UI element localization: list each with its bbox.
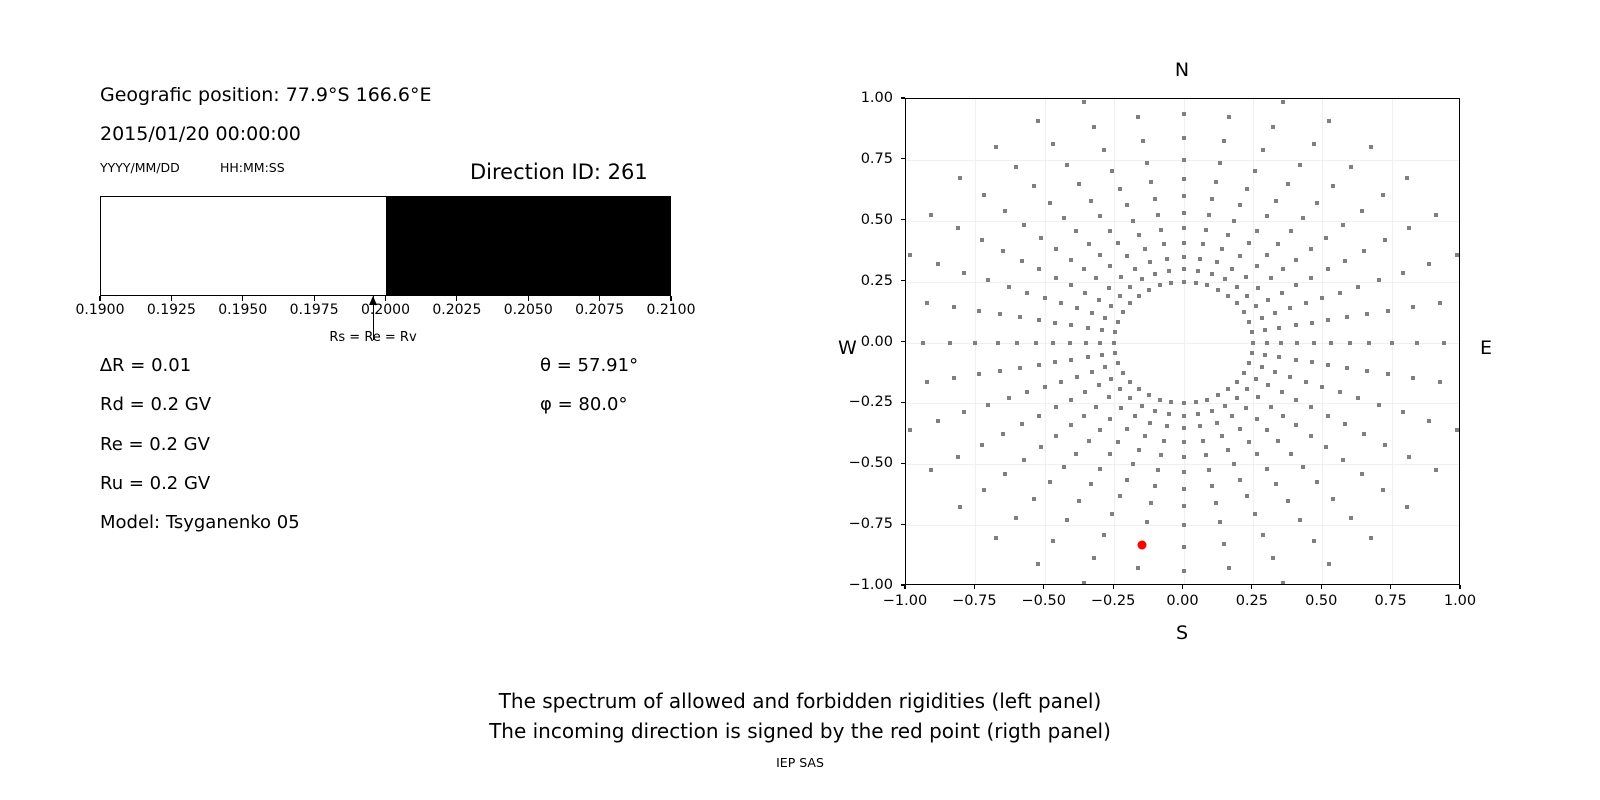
- direction-grid-point: [1125, 254, 1129, 258]
- direction-grid-point: [1455, 428, 1459, 432]
- direction-grid-point: [1245, 494, 1249, 498]
- direction-grid-point: [1438, 380, 1442, 384]
- direction-grid-point: [1051, 142, 1055, 146]
- direction-grid-point: [1210, 272, 1214, 276]
- direction-grid-point: [1182, 177, 1186, 181]
- direction-grid-point: [980, 443, 984, 447]
- direction-grid-point: [1276, 439, 1280, 443]
- direction-grid-point: [1315, 480, 1319, 484]
- direction-grid-point: [948, 341, 952, 345]
- sky-x-tick: [1113, 585, 1114, 589]
- direction-grid-point: [1037, 318, 1041, 322]
- compass-label-east: E: [1480, 337, 1492, 359]
- direction-grid-point: [1182, 414, 1186, 418]
- sky-x-tick-label: 0.75: [1374, 593, 1406, 609]
- direction-grid-point: [1227, 566, 1231, 570]
- direction-grid-point: [1349, 516, 1353, 520]
- direction-grid-point: [1137, 387, 1141, 391]
- direction-grid-point: [1118, 187, 1122, 191]
- sky-x-tick-label: −0.25: [1091, 593, 1135, 609]
- direction-grid-point: [1043, 385, 1047, 389]
- direction-grid-point: [1215, 260, 1219, 264]
- direction-grid-point: [1001, 249, 1005, 253]
- direction-grid-point: [1232, 219, 1236, 223]
- direction-grid-point: [1247, 241, 1251, 245]
- direction-grid-point: [1022, 458, 1026, 462]
- direction-grid-point: [962, 410, 966, 414]
- direction-grid-point: [1269, 405, 1273, 409]
- direction-grid-point: [1083, 291, 1087, 295]
- direction-grid-point: [1294, 423, 1298, 427]
- direction-grid-point: [1280, 390, 1284, 394]
- direction-grid-point: [1007, 285, 1011, 289]
- direction-grid-point: [1039, 445, 1043, 449]
- direction-grid-point: [1015, 341, 1019, 345]
- direction-grid-point: [1118, 387, 1122, 391]
- compass-label-south: S: [1176, 622, 1188, 644]
- direction-grid-point: [1265, 253, 1269, 257]
- direction-grid-point: [1167, 412, 1171, 416]
- direction-grid-point: [1301, 216, 1305, 220]
- direction-grid-point: [1345, 366, 1349, 370]
- direction-grid-point: [998, 369, 1002, 373]
- direction-grid-point: [1128, 380, 1132, 384]
- direction-grid-point: [1294, 398, 1298, 402]
- direction-grid-point: [982, 488, 986, 492]
- direction-grid-point: [1182, 440, 1186, 444]
- direction-grid-point: [1051, 539, 1055, 543]
- direction-grid-point: [1226, 387, 1230, 391]
- direction-grid-point: [1092, 556, 1096, 560]
- direction-grid-point: [1260, 365, 1264, 369]
- direction-grid-point: [1289, 452, 1293, 456]
- direction-grid-point: [1251, 341, 1255, 345]
- direction-grid-point: [1273, 370, 1277, 374]
- direction-grid-point: [1369, 536, 1373, 540]
- direction-grid-point: [1255, 452, 1259, 456]
- direction-grid-point: [1153, 197, 1157, 201]
- direction-grid-point: [929, 213, 933, 217]
- direction-grid-point: [1204, 228, 1208, 232]
- direction-grid-point: [1253, 169, 1257, 173]
- direction-grid-point: [1069, 283, 1073, 287]
- direction-grid-point: [1097, 383, 1101, 387]
- direction-grid-point: [1116, 241, 1120, 245]
- direction-grid-point: [1281, 100, 1285, 104]
- direction-grid-point: [1100, 328, 1104, 332]
- direction-grid-point: [1007, 396, 1011, 400]
- direction-grid-point: [1320, 296, 1324, 300]
- direction-grid-point: [1121, 371, 1125, 375]
- direction-grid-point: [1383, 238, 1387, 242]
- direction-grid-point: [1082, 414, 1086, 418]
- direction-grid-point: [1365, 369, 1369, 373]
- gridline-horizontal: [906, 464, 1459, 465]
- direction-grid-point: [1107, 286, 1111, 290]
- direction-grid-point: [1271, 556, 1275, 560]
- direction-grid-point: [1158, 283, 1162, 287]
- direction-grid-point: [1386, 372, 1390, 376]
- direction-grid-point: [1182, 504, 1186, 508]
- direction-grid-point: [1288, 306, 1292, 310]
- direction-grid-point: [977, 309, 981, 313]
- sky-y-tick-label: −0.75: [835, 516, 893, 532]
- direction-grid-point: [1182, 211, 1186, 215]
- direction-grid-point: [1054, 247, 1058, 251]
- direction-grid-point: [1034, 341, 1038, 345]
- direction-grid-point: [1216, 393, 1220, 397]
- incoming-direction-point: [1137, 540, 1146, 549]
- direction-grid-point: [1069, 358, 1073, 362]
- sky-y-tick: [901, 158, 905, 159]
- direction-grid-point: [1182, 255, 1186, 259]
- direction-grid-point: [1207, 468, 1211, 472]
- direction-grid-point: [952, 305, 956, 309]
- sky-x-tick: [1390, 585, 1391, 589]
- direction-grid-point: [1097, 298, 1101, 302]
- direction-grid-point: [1116, 361, 1120, 365]
- direction-grid-point: [1053, 321, 1057, 325]
- direction-grid-point: [1141, 139, 1145, 143]
- direction-grid-point: [1113, 330, 1117, 334]
- direction-grid-point: [1411, 305, 1415, 309]
- direction-grid-point: [1113, 351, 1117, 355]
- direction-grid-point: [1220, 434, 1224, 438]
- direction-grid-point: [1269, 276, 1273, 280]
- direction-grid-point: [1145, 161, 1149, 165]
- direction-grid-point: [1265, 214, 1269, 218]
- direction-grid-point: [1210, 197, 1214, 201]
- direction-grid-point: [1365, 312, 1369, 316]
- direction-grid-point: [994, 536, 998, 540]
- direction-grid-point: [1235, 301, 1239, 305]
- direction-grid-point: [1125, 203, 1129, 207]
- direction-grid-point: [1098, 428, 1102, 432]
- direction-grid-point: [1227, 115, 1231, 119]
- direction-grid-point: [1312, 539, 1316, 543]
- direction-grid-point: [1265, 467, 1269, 471]
- gridline-vertical: [1322, 99, 1323, 584]
- direction-grid-point: [1110, 512, 1114, 516]
- direction-grid-point: [1265, 428, 1269, 432]
- direction-grid-point: [1109, 304, 1113, 308]
- gridline-horizontal: [906, 221, 1459, 222]
- compass-label-north: N: [1175, 59, 1189, 81]
- direction-grid-point: [1242, 310, 1246, 314]
- direction-grid-point: [1280, 291, 1284, 295]
- direction-grid-point: [1242, 371, 1246, 375]
- direction-grid-point: [1261, 533, 1265, 537]
- direction-grid-point: [1256, 395, 1260, 399]
- direction-grid-point: [1362, 249, 1366, 253]
- direction-grid-point: [1182, 280, 1186, 284]
- direction-grid-point: [1310, 321, 1314, 325]
- direction-grid-point: [1167, 269, 1171, 273]
- direction-grid-point: [1143, 434, 1147, 438]
- direction-grid-point: [1182, 241, 1186, 245]
- direction-grid-point: [1201, 439, 1205, 443]
- direction-grid-point: [1223, 277, 1227, 281]
- direction-grid-point: [1147, 393, 1151, 397]
- sky-map-panel: N S W E −1.00−0.75−0.50−0.250.000.250.50…: [0, 0, 1600, 660]
- sky-x-tick: [974, 585, 975, 589]
- direction-grid-point: [1369, 145, 1373, 149]
- direction-grid-point: [1082, 100, 1086, 104]
- direction-grid-point: [1137, 448, 1141, 452]
- direction-grid-point: [1298, 163, 1302, 167]
- direction-grid-point: [1434, 468, 1438, 472]
- direction-grid-point: [1036, 119, 1040, 123]
- sky-x-tick-label: 0.00: [1166, 593, 1198, 609]
- direction-grid-point: [908, 253, 912, 257]
- direction-grid-point: [1411, 376, 1415, 380]
- direction-grid-point: [1247, 361, 1251, 365]
- direction-grid-point: [1121, 310, 1125, 314]
- direction-grid-point: [1054, 276, 1058, 280]
- direction-grid-point: [1048, 480, 1052, 484]
- direction-grid-point: [1140, 404, 1144, 408]
- direction-grid-point: [1210, 484, 1214, 488]
- direction-grid-point: [1266, 298, 1270, 302]
- sky-y-tick: [901, 219, 905, 220]
- sky-y-tick-label: 0.25: [835, 273, 893, 289]
- direction-grid-point: [1032, 184, 1036, 188]
- direction-grid-point: [1220, 247, 1224, 251]
- direction-grid-point: [1247, 440, 1251, 444]
- direction-grid-point: [1327, 119, 1331, 123]
- direction-grid-point: [1110, 169, 1114, 173]
- direction-grid-point: [986, 403, 990, 407]
- direction-grid-point: [1159, 453, 1163, 457]
- direction-grid-point: [1133, 414, 1137, 418]
- direction-grid-point: [1148, 421, 1152, 425]
- direction-grid-point: [1205, 283, 1209, 287]
- direction-grid-point: [1182, 545, 1186, 549]
- direction-grid-point: [1324, 445, 1328, 449]
- gridline-vertical: [1184, 99, 1185, 584]
- direction-grid-point: [1238, 478, 1242, 482]
- direction-grid-point: [1338, 390, 1342, 394]
- direction-grid-point: [1427, 419, 1431, 423]
- direction-grid-point: [1125, 478, 1129, 482]
- direction-grid-point: [1119, 406, 1123, 410]
- direction-grid-point: [1119, 275, 1123, 279]
- direction-grid-point: [1260, 316, 1264, 320]
- direction-grid-point: [1196, 269, 1200, 273]
- direction-grid-point: [1401, 410, 1405, 414]
- direction-grid-point: [1194, 281, 1198, 285]
- direction-grid-point: [1131, 462, 1135, 466]
- direction-grid-point: [1247, 320, 1251, 324]
- direction-grid-point: [1294, 358, 1298, 362]
- direction-grid-point: [1182, 226, 1186, 230]
- direction-grid-point: [1442, 341, 1446, 345]
- direction-grid-point: [936, 419, 940, 423]
- direction-grid-point: [1390, 341, 1394, 345]
- direction-grid-point: [1298, 518, 1302, 522]
- direction-grid-point: [1245, 387, 1249, 391]
- sky-map-axes: [905, 98, 1460, 585]
- direction-grid-point: [921, 341, 925, 345]
- sky-x-tick-label: −1.00: [883, 593, 927, 609]
- direction-grid-point: [1136, 566, 1140, 570]
- direction-grid-point: [1401, 271, 1405, 275]
- gridline-vertical: [1045, 99, 1046, 584]
- direction-grid-point: [1182, 194, 1186, 198]
- direction-grid-point: [1112, 341, 1116, 345]
- direction-grid-point: [1065, 163, 1069, 167]
- direction-grid-point: [1162, 242, 1166, 246]
- direction-grid-point: [1098, 467, 1102, 471]
- direction-grid-point: [1149, 501, 1153, 505]
- direction-grid-point: [1345, 315, 1349, 319]
- direction-grid-point: [1128, 396, 1132, 400]
- direction-grid-point: [977, 372, 981, 376]
- direction-grid-point: [1331, 497, 1335, 501]
- sky-y-tick-label: −1.00: [835, 577, 893, 593]
- sky-y-tick: [901, 280, 905, 281]
- direction-grid-point: [1360, 209, 1364, 213]
- direction-grid-point: [1222, 139, 1226, 143]
- sky-x-tick: [1321, 585, 1322, 589]
- direction-grid-point: [1309, 276, 1313, 280]
- direction-grid-point: [1118, 494, 1122, 498]
- direction-grid-point: [1140, 277, 1144, 281]
- direction-grid-point: [1014, 516, 1018, 520]
- direction-grid-point: [1182, 455, 1186, 459]
- direction-grid-point: [996, 341, 1000, 345]
- direction-grid-point: [1039, 236, 1043, 240]
- direction-grid-point: [1312, 341, 1316, 345]
- sky-x-tick-label: 1.00: [1444, 593, 1476, 609]
- direction-grid-point: [1090, 370, 1094, 374]
- direction-grid-point: [1133, 267, 1137, 271]
- direction-grid-point: [1320, 385, 1324, 389]
- direction-grid-point: [1182, 136, 1186, 140]
- direction-grid-point: [1098, 341, 1102, 345]
- direction-grid-point: [1218, 161, 1222, 165]
- direction-grid-point: [1207, 213, 1211, 217]
- direction-grid-point: [1089, 199, 1093, 203]
- caption-line-1: The spectrum of allowed and forbidden ri…: [0, 686, 1600, 716]
- direction-grid-point: [1094, 276, 1098, 280]
- direction-grid-point: [1156, 213, 1160, 217]
- direction-grid-point: [1198, 257, 1202, 261]
- direction-grid-point: [1230, 267, 1234, 271]
- sky-y-tick: [901, 402, 905, 403]
- direction-grid-point: [1182, 158, 1186, 162]
- direction-grid-point: [1059, 380, 1063, 384]
- direction-grid-point: [1331, 184, 1335, 188]
- direction-grid-point: [1075, 375, 1079, 379]
- direction-grid-point: [1201, 242, 1205, 246]
- direction-grid-point: [1326, 318, 1330, 322]
- direction-grid-point: [1020, 259, 1024, 263]
- direction-grid-point: [908, 428, 912, 432]
- direction-grid-point: [1156, 468, 1160, 472]
- direction-grid-point: [1194, 400, 1198, 404]
- direction-grid-point: [1087, 439, 1091, 443]
- direction-grid-point: [1288, 375, 1292, 379]
- direction-grid-point: [1089, 482, 1093, 486]
- direction-grid-point: [1158, 398, 1162, 402]
- direction-grid-point: [1407, 226, 1411, 230]
- direction-grid-point: [1304, 301, 1308, 305]
- direction-grid-point: [1182, 470, 1186, 474]
- direction-grid-point: [1077, 182, 1081, 186]
- direction-grid-point: [1109, 377, 1113, 381]
- direction-grid-point: [1069, 423, 1073, 427]
- direction-grid-point: [958, 176, 962, 180]
- sky-y-tick-label: −0.25: [835, 394, 893, 410]
- direction-grid-point: [1245, 187, 1249, 191]
- direction-grid-point: [1310, 360, 1314, 364]
- direction-grid-point: [1182, 267, 1186, 271]
- direction-grid-point: [1082, 581, 1086, 585]
- direction-grid-point: [1090, 311, 1094, 315]
- direction-grid-point: [1210, 409, 1214, 413]
- direction-grid-point: [1281, 267, 1285, 271]
- direction-grid-point: [1053, 360, 1057, 364]
- direction-grid-point: [1329, 341, 1333, 345]
- direction-grid-point: [1263, 328, 1267, 332]
- direction-grid-point: [1025, 390, 1029, 394]
- direction-grid-point: [1215, 421, 1219, 425]
- direction-grid-point: [1022, 223, 1026, 227]
- direction-grid-point: [1381, 488, 1385, 492]
- direction-grid-point: [1153, 409, 1157, 413]
- direction-grid-point: [1204, 453, 1208, 457]
- direction-grid-point: [1116, 440, 1120, 444]
- sky-y-tick: [901, 97, 905, 98]
- direction-grid-point: [1304, 380, 1308, 384]
- direction-grid-point: [1235, 396, 1239, 400]
- direction-grid-point: [1074, 229, 1078, 233]
- direction-grid-point: [1014, 165, 1018, 169]
- direction-grid-point: [1054, 434, 1058, 438]
- direction-grid-point: [1255, 229, 1259, 233]
- direction-grid-point: [1349, 165, 1353, 169]
- direction-grid-point: [1367, 341, 1371, 345]
- direction-grid-point: [1415, 341, 1419, 345]
- direction-grid-point: [1162, 439, 1166, 443]
- direction-grid-point: [1238, 203, 1242, 207]
- direction-grid-point: [1222, 542, 1226, 546]
- direction-grid-point: [1169, 281, 1173, 285]
- direction-grid-point: [1255, 417, 1259, 421]
- direction-grid-point: [1153, 272, 1157, 276]
- direction-grid-point: [1128, 301, 1132, 305]
- direction-grid-point: [1065, 518, 1069, 522]
- direction-grid-point: [1108, 417, 1112, 421]
- sky-y-tick-label: 1.00: [835, 90, 893, 106]
- direction-grid-point: [1145, 520, 1149, 524]
- direction-grid-point: [1137, 233, 1141, 237]
- direction-grid-point: [1108, 452, 1112, 456]
- direction-grid-point: [1250, 351, 1254, 355]
- direction-grid-point: [1051, 341, 1055, 345]
- direction-grid-point: [973, 341, 977, 345]
- direction-grid-point: [1324, 236, 1328, 240]
- direction-grid-point: [1381, 193, 1385, 197]
- direction-grid-point: [1128, 285, 1132, 289]
- direction-grid-point: [1165, 424, 1169, 428]
- direction-grid-point: [1003, 209, 1007, 213]
- direction-grid-point: [1108, 264, 1112, 268]
- direction-grid-point: [1098, 253, 1102, 257]
- direction-grid-point: [1327, 562, 1331, 566]
- direction-grid-point: [1286, 499, 1290, 503]
